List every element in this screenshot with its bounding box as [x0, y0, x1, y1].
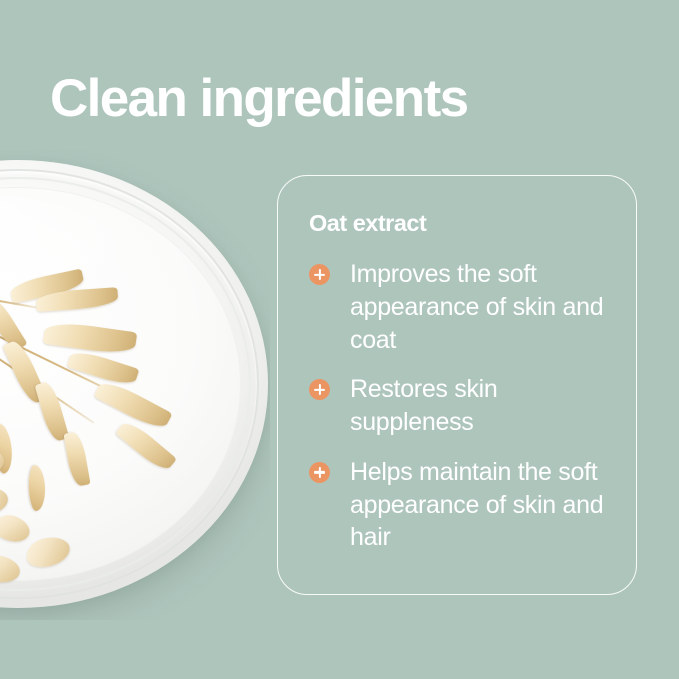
oat-spikelet — [115, 418, 177, 474]
benefit-list: Improves the soft appearance of skin and… — [309, 258, 608, 554]
benefit-text: Improves the soft appearance of skin and… — [350, 258, 608, 356]
oat-plate-image — [0, 160, 268, 608]
oat-spikelet — [93, 377, 172, 433]
oat-cluster — [0, 270, 218, 590]
plus-circle-icon — [309, 462, 330, 483]
ingredient-card: Oat extract Improves the soft appearance… — [277, 175, 637, 595]
oat-spikelet — [67, 348, 140, 389]
list-item: Helps maintain the soft appearance of sk… — [309, 456, 608, 554]
oat-flake — [23, 533, 72, 571]
card-title: Oat extract — [309, 209, 608, 237]
list-item: Restores skin suppleness — [309, 373, 608, 439]
plus-circle-icon — [309, 379, 330, 400]
oat-flake — [0, 553, 22, 586]
oat-spikelet — [43, 320, 137, 357]
oat-grain — [28, 465, 46, 512]
benefit-text: Helps maintain the soft appearance of sk… — [350, 456, 608, 554]
benefit-text: Restores skin suppleness — [350, 373, 608, 439]
oat-flake — [0, 511, 33, 546]
oat-spikelet — [63, 431, 90, 487]
oat-flake — [0, 485, 10, 517]
ingredient-photo — [0, 150, 270, 620]
page-title: Clean ingredients — [50, 69, 468, 128]
list-item: Improves the soft appearance of skin and… — [309, 258, 608, 356]
marketing-panel: Clean ingredients — [0, 0, 679, 679]
plus-circle-icon — [309, 264, 330, 285]
